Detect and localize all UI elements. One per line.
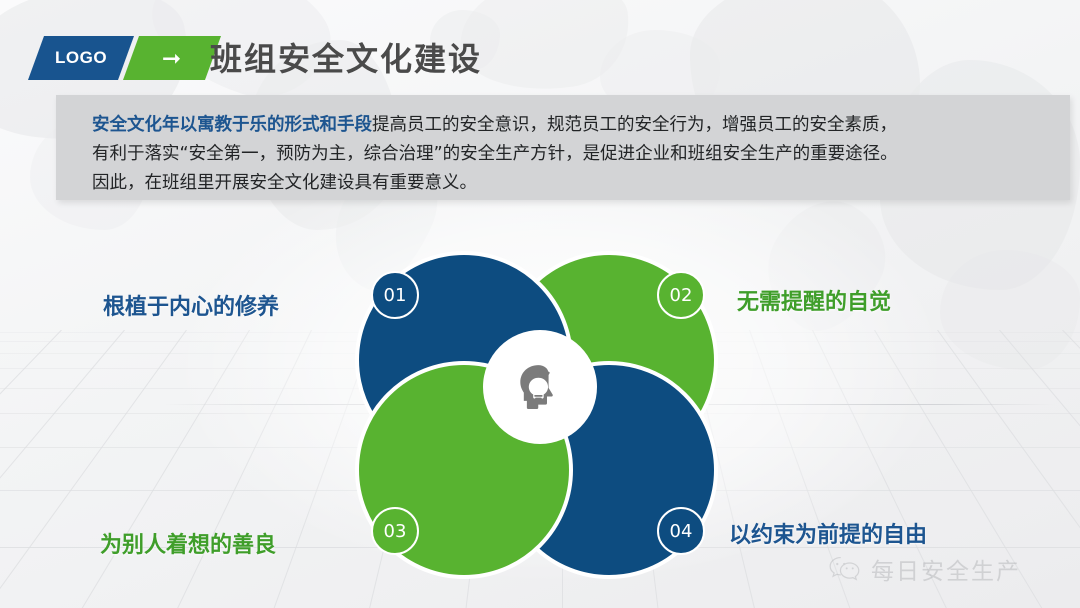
- description-line-1-rest: 提高员工的安全意识，规范员工的安全行为，增强员工的安全素质，: [372, 115, 897, 135]
- slide-canvas: LOGO ➞ 班组安全文化建设 安全文化年以寓教于乐的形式和手段提高员工的安全意…: [0, 0, 1080, 608]
- description-line-3: 因此，在班组里开展安全文化建设具有重要意义。: [92, 169, 1044, 198]
- description-panel: 安全文化年以寓教于乐的形式和手段提高员工的安全意识，规范员工的安全行为，增强员工…: [56, 95, 1070, 200]
- slide-header: LOGO ➞ 班组安全文化建设: [0, 0, 1080, 95]
- page-title: 班组安全文化建设: [210, 34, 482, 80]
- petal-label-01: 根植于内心的修养: [103, 289, 279, 321]
- arrow-right-icon: ➞: [162, 47, 181, 70]
- petal-label-02: 无需提醒的自觉: [737, 284, 891, 316]
- petal-diagram: 01 02 03 04: [345, 245, 735, 585]
- description-line-2: 有利于落实“安全第一，预防为主，综合治理”的安全生产方针，是促进企业和班组安全生…: [92, 140, 1044, 169]
- petal-label-03: 为别人着想的善良: [100, 527, 276, 559]
- petal-badge-04[interactable]: 04: [657, 507, 705, 555]
- watermark: 每日安全生产: [828, 552, 1021, 586]
- petal-badge-02[interactable]: 02: [657, 271, 705, 319]
- petal-badge-03[interactable]: 03: [371, 507, 419, 555]
- petal-badge-01[interactable]: 01: [371, 271, 419, 319]
- description-line-1: 安全文化年以寓教于乐的形式和手段提高员工的安全意识，规范员工的安全行为，增强员工…: [92, 111, 1044, 140]
- petal-label-04: 以约束为前提的自由: [729, 517, 927, 549]
- logo-tag-blue[interactable]: LOGO: [28, 36, 134, 80]
- head-lightbulb-icon: [512, 359, 568, 415]
- watermark-text: 每日安全生产: [871, 552, 1021, 586]
- logo-label: LOGO: [55, 48, 107, 68]
- wechat-icon: [828, 555, 862, 583]
- logo-tag-green[interactable]: ➞: [123, 36, 221, 80]
- diagram-center-hub: [483, 330, 597, 444]
- logo-badge[interactable]: LOGO ➞: [36, 36, 213, 80]
- description-highlight: 安全文化年以寓教于乐的形式和手段: [92, 115, 372, 135]
